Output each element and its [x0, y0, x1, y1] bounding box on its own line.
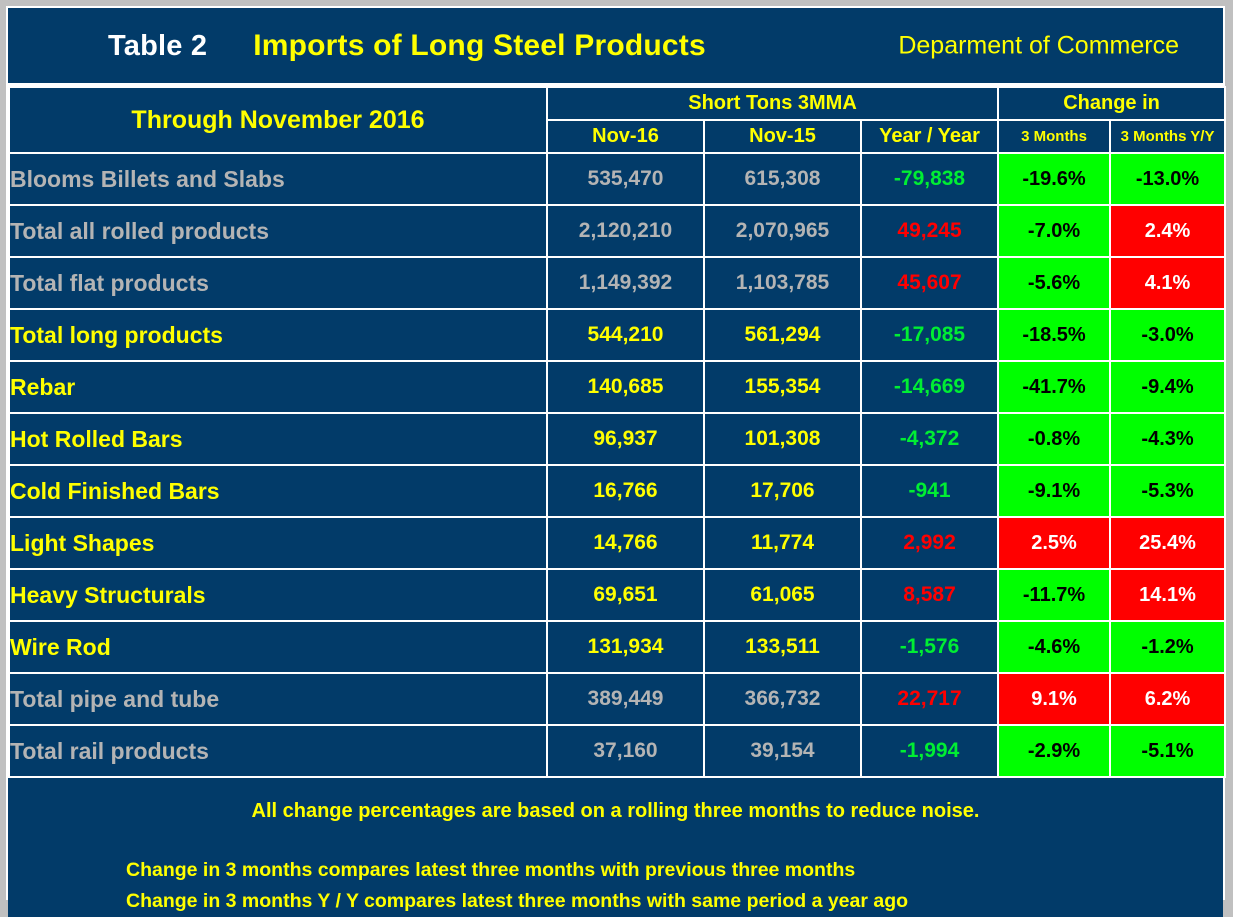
cell-nov16: 389,449: [547, 673, 704, 725]
cell-change-3-months-yy: 6.2%: [1110, 673, 1225, 725]
cell-nov16: 69,651: [547, 569, 704, 621]
cell-change-3-months: -11.7%: [998, 569, 1110, 621]
title-left-group: Table 2 Imports of Long Steel Products: [8, 29, 706, 63]
cell-change-3-months-yy: -5.3%: [1110, 465, 1225, 517]
cell-change-3-months: 9.1%: [998, 673, 1110, 725]
column-header-nov16: Nov-16: [547, 120, 704, 153]
table-row: Cold Finished Bars16,76617,706-941-9.1%-…: [9, 465, 1225, 517]
table-frame: Table 2 Imports of Long Steel Products D…: [6, 6, 1225, 900]
cell-change-3-months: -4.6%: [998, 621, 1110, 673]
cell-year-over-year: -1,994: [861, 725, 998, 777]
cell-nov16: 1,149,392: [547, 257, 704, 309]
table-number-label: Table 2: [108, 30, 207, 63]
cell-nov16: 535,470: [547, 153, 704, 205]
column-header-3-months-yy: 3 Months Y/Y: [1110, 120, 1225, 153]
cell-year-over-year: -1,576: [861, 621, 998, 673]
group-header-short-tons: Short Tons 3MMA: [547, 87, 998, 120]
cell-nov16: 544,210: [547, 309, 704, 361]
row-label: Total all rolled products: [9, 205, 547, 257]
cell-change-3-months: -2.9%: [998, 725, 1110, 777]
row-label: Blooms Billets and Slabs: [9, 153, 547, 205]
cell-change-3-months-yy: -9.4%: [1110, 361, 1225, 413]
cell-nov16: 37,160: [547, 725, 704, 777]
footnote-rolling-average: All change percentages are based on a ro…: [8, 800, 1223, 823]
row-label: Hot Rolled Bars: [9, 413, 547, 465]
table-header: Through November 2016 Short Tons 3MMA Ch…: [9, 87, 1225, 153]
cell-nov15: 561,294: [704, 309, 861, 361]
cell-change-3-months-yy: -3.0%: [1110, 309, 1225, 361]
cell-year-over-year: 45,607: [861, 257, 998, 309]
period-header: Through November 2016: [9, 87, 547, 153]
cell-change-3-months-yy: -1.2%: [1110, 621, 1225, 673]
cell-nov15: 2,070,965: [704, 205, 861, 257]
row-label: Light Shapes: [9, 517, 547, 569]
cell-year-over-year: -17,085: [861, 309, 998, 361]
cell-change-3-months-yy: 25.4%: [1110, 517, 1225, 569]
row-label: Total flat products: [9, 257, 547, 309]
imports-table: Through November 2016 Short Tons 3MMA Ch…: [8, 86, 1226, 778]
row-label: Cold Finished Bars: [9, 465, 547, 517]
table-row: Total flat products1,149,3921,103,78545,…: [9, 257, 1225, 309]
cell-year-over-year: 8,587: [861, 569, 998, 621]
cell-nov15: 366,732: [704, 673, 861, 725]
table-row: Wire Rod131,934133,511-1,576-4.6%-1.2%: [9, 621, 1225, 673]
cell-nov15: 133,511: [704, 621, 861, 673]
table-row: Total pipe and tube389,449366,73222,7179…: [9, 673, 1225, 725]
header-row-groups: Through November 2016 Short Tons 3MMA Ch…: [9, 87, 1225, 120]
cell-nov16: 96,937: [547, 413, 704, 465]
cell-change-3-months: -9.1%: [998, 465, 1110, 517]
cell-nov16: 131,934: [547, 621, 704, 673]
cell-year-over-year: 49,245: [861, 205, 998, 257]
cell-change-3-months-yy: 4.1%: [1110, 257, 1225, 309]
cell-nov16: 14,766: [547, 517, 704, 569]
row-label: Total long products: [9, 309, 547, 361]
cell-change-3-months: -7.0%: [998, 205, 1110, 257]
cell-nov15: 155,354: [704, 361, 861, 413]
cell-change-3-months: -0.8%: [998, 413, 1110, 465]
cell-change-3-months-yy: -5.1%: [1110, 725, 1225, 777]
cell-change-3-months: -5.6%: [998, 257, 1110, 309]
cell-nov15: 39,154: [704, 725, 861, 777]
footnote-3-month-yy-definition: Change in 3 months Y / Y compares latest…: [126, 886, 1223, 917]
data-source-label: Deparment of Commerce: [898, 31, 1179, 60]
footnotes: All change percentages are based on a ro…: [8, 778, 1223, 917]
cell-year-over-year: -14,669: [861, 361, 998, 413]
cell-year-over-year: -941: [861, 465, 998, 517]
table-row: Hot Rolled Bars96,937101,308-4,372-0.8%-…: [9, 413, 1225, 465]
title-bar: Table 2 Imports of Long Steel Products D…: [8, 8, 1223, 86]
cell-change-3-months: -19.6%: [998, 153, 1110, 205]
column-header-3-months: 3 Months: [998, 120, 1110, 153]
table-row: Total rail products37,16039,154-1,994-2.…: [9, 725, 1225, 777]
table-row: Total long products544,210561,294-17,085…: [9, 309, 1225, 361]
cell-change-3-months: -18.5%: [998, 309, 1110, 361]
slide-canvas: Table 2 Imports of Long Steel Products D…: [0, 0, 1233, 908]
cell-year-over-year: -79,838: [861, 153, 998, 205]
footnote-3-month-definition: Change in 3 months compares latest three…: [126, 855, 1223, 886]
table-row: Rebar140,685155,354-14,669-41.7%-9.4%: [9, 361, 1225, 413]
cell-nov16: 16,766: [547, 465, 704, 517]
column-header-nov15: Nov-15: [704, 120, 861, 153]
group-header-change-in: Change in: [998, 87, 1225, 120]
table-row: Light Shapes14,76611,7742,9922.5%25.4%: [9, 517, 1225, 569]
cell-change-3-months: 2.5%: [998, 517, 1110, 569]
cell-year-over-year: 2,992: [861, 517, 998, 569]
cell-year-over-year: 22,717: [861, 673, 998, 725]
cell-nov16: 140,685: [547, 361, 704, 413]
page-title: Imports of Long Steel Products: [253, 29, 706, 63]
table-row: Blooms Billets and Slabs535,470615,308-7…: [9, 153, 1225, 205]
cell-nov15: 615,308: [704, 153, 861, 205]
table-row: Total all rolled products2,120,2102,070,…: [9, 205, 1225, 257]
row-label: Total rail products: [9, 725, 547, 777]
cell-change-3-months-yy: 2.4%: [1110, 205, 1225, 257]
cell-nov15: 17,706: [704, 465, 861, 517]
cell-nov15: 1,103,785: [704, 257, 861, 309]
cell-year-over-year: -4,372: [861, 413, 998, 465]
cell-nov15: 101,308: [704, 413, 861, 465]
column-header-year-over-year: Year / Year: [861, 120, 998, 153]
row-label: Heavy Structurals: [9, 569, 547, 621]
cell-change-3-months-yy: -4.3%: [1110, 413, 1225, 465]
cell-nov16: 2,120,210: [547, 205, 704, 257]
cell-nov15: 61,065: [704, 569, 861, 621]
cell-change-3-months-yy: 14.1%: [1110, 569, 1225, 621]
row-label: Total pipe and tube: [9, 673, 547, 725]
table-row: Heavy Structurals69,65161,0658,587-11.7%…: [9, 569, 1225, 621]
cell-nov15: 11,774: [704, 517, 861, 569]
cell-change-3-months: -41.7%: [998, 361, 1110, 413]
table-body: Blooms Billets and Slabs535,470615,308-7…: [9, 153, 1225, 777]
row-label: Rebar: [9, 361, 547, 413]
row-label: Wire Rod: [9, 621, 547, 673]
cell-change-3-months-yy: -13.0%: [1110, 153, 1225, 205]
